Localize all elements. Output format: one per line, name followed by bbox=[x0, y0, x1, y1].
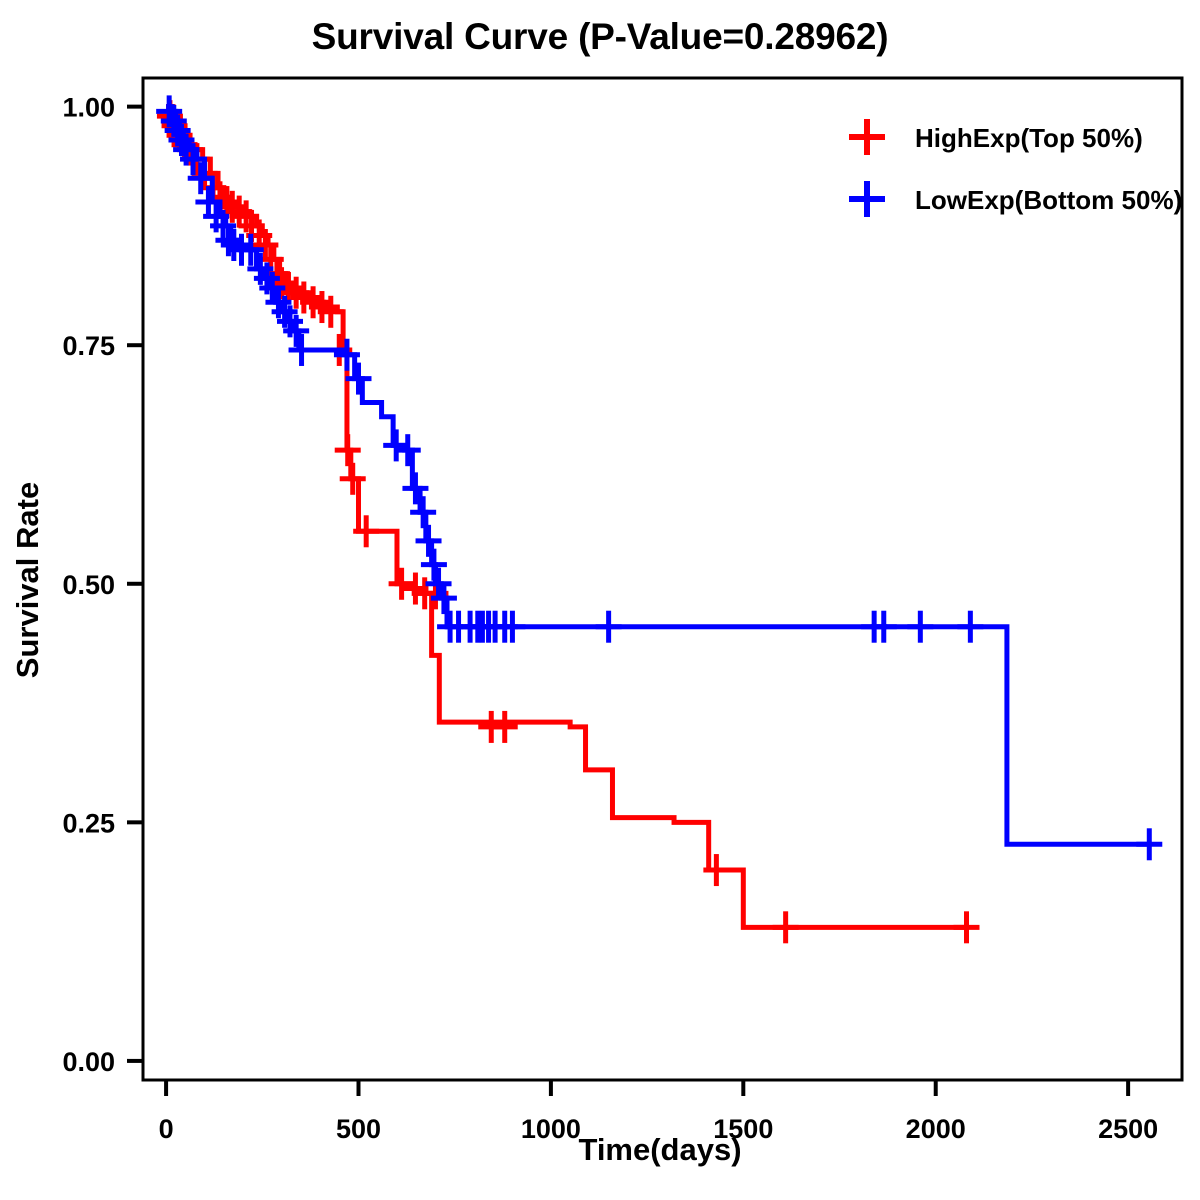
x-tick-label: 500 bbox=[336, 1114, 381, 1144]
survival-curve-figure: Survival Curve (P-Value=0.28962) 0500100… bbox=[0, 0, 1200, 1200]
x-tick-label: 1000 bbox=[521, 1114, 581, 1144]
x-tick-label: 2500 bbox=[1098, 1114, 1158, 1144]
survival-plot: 05001000150020002500 0.000.250.500.751.0… bbox=[0, 0, 1200, 1200]
y-tick-label: 0.50 bbox=[62, 570, 115, 600]
legend-label: HighExp(Top 50%) bbox=[915, 123, 1143, 153]
y-tick-label: 0.25 bbox=[62, 808, 115, 838]
legend-label: LowExp(Bottom 50%) bbox=[915, 185, 1182, 215]
y-axis-title: Survival Rate bbox=[10, 482, 45, 678]
y-tick-label: 0.75 bbox=[62, 331, 115, 361]
x-tick-label: 2000 bbox=[906, 1114, 966, 1144]
x-axis-title: Time(days) bbox=[578, 1132, 741, 1167]
x-tick-label: 0 bbox=[159, 1114, 174, 1144]
y-tick-label: 1.00 bbox=[62, 93, 115, 123]
plot-frame bbox=[143, 78, 1182, 1080]
y-tick-label: 0.00 bbox=[62, 1047, 115, 1077]
y-axis-ticks: 0.000.250.500.751.00 bbox=[62, 93, 143, 1077]
